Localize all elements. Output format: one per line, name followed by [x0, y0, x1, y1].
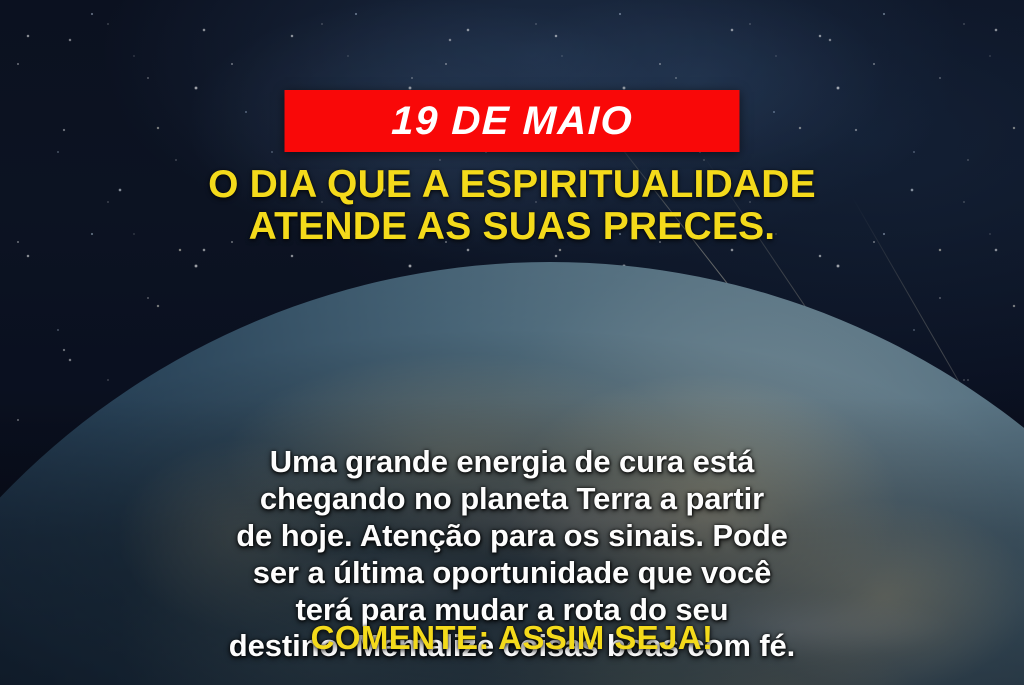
body-line-3: de hoje. Atenção para os sinais. Pode [52, 518, 972, 555]
headline-line-2: ATENDE AS SUAS PRECES. [40, 206, 984, 248]
date-banner-label: 19 DE MAIO [390, 101, 633, 141]
headline: O DIA QUE A ESPIRITUALIDADE ATENDE AS SU… [0, 164, 1024, 248]
call-to-action-label: COMENTE: ASSIM SEJA! [311, 619, 714, 656]
body-line-4: ser a última oportunidade que você [52, 555, 972, 592]
date-banner: 19 DE MAIO [285, 90, 740, 152]
headline-line-1: O DIA QUE A ESPIRITUALIDADE [208, 163, 816, 206]
poster-content: 19 DE MAIO O DIA QUE A ESPIRITUALIDADE A… [0, 0, 1024, 685]
call-to-action: COMENTE: ASSIM SEJA! [0, 619, 1024, 657]
body-line-1: Uma grande energia de cura está [52, 444, 972, 481]
poster-canvas: 19 DE MAIO O DIA QUE A ESPIRITUALIDADE A… [0, 0, 1024, 685]
body-line-2: chegando no planeta Terra a partir [52, 481, 972, 518]
